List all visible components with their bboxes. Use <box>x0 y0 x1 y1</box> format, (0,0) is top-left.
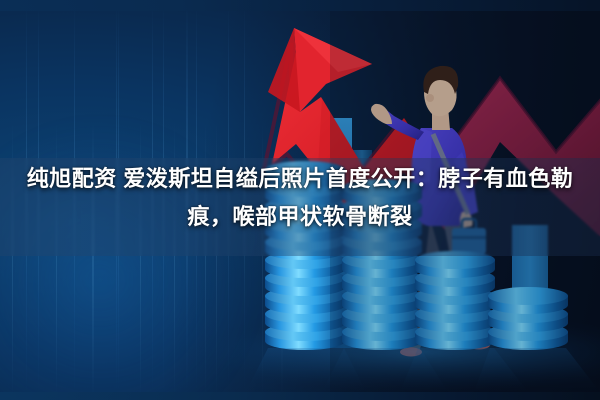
news-banner-image: 纯旭配资 爱泼斯坦自缢后照片首度公开：脖子有血色勒痕，喉部甲状软骨断裂 <box>0 0 600 400</box>
bottom-trim-band <box>0 392 600 400</box>
top-trim-band <box>0 0 600 11</box>
headline-text: 纯旭配资 爱泼斯坦自缢后照片首度公开：脖子有血色勒痕，喉部甲状软骨断裂 <box>0 160 600 236</box>
